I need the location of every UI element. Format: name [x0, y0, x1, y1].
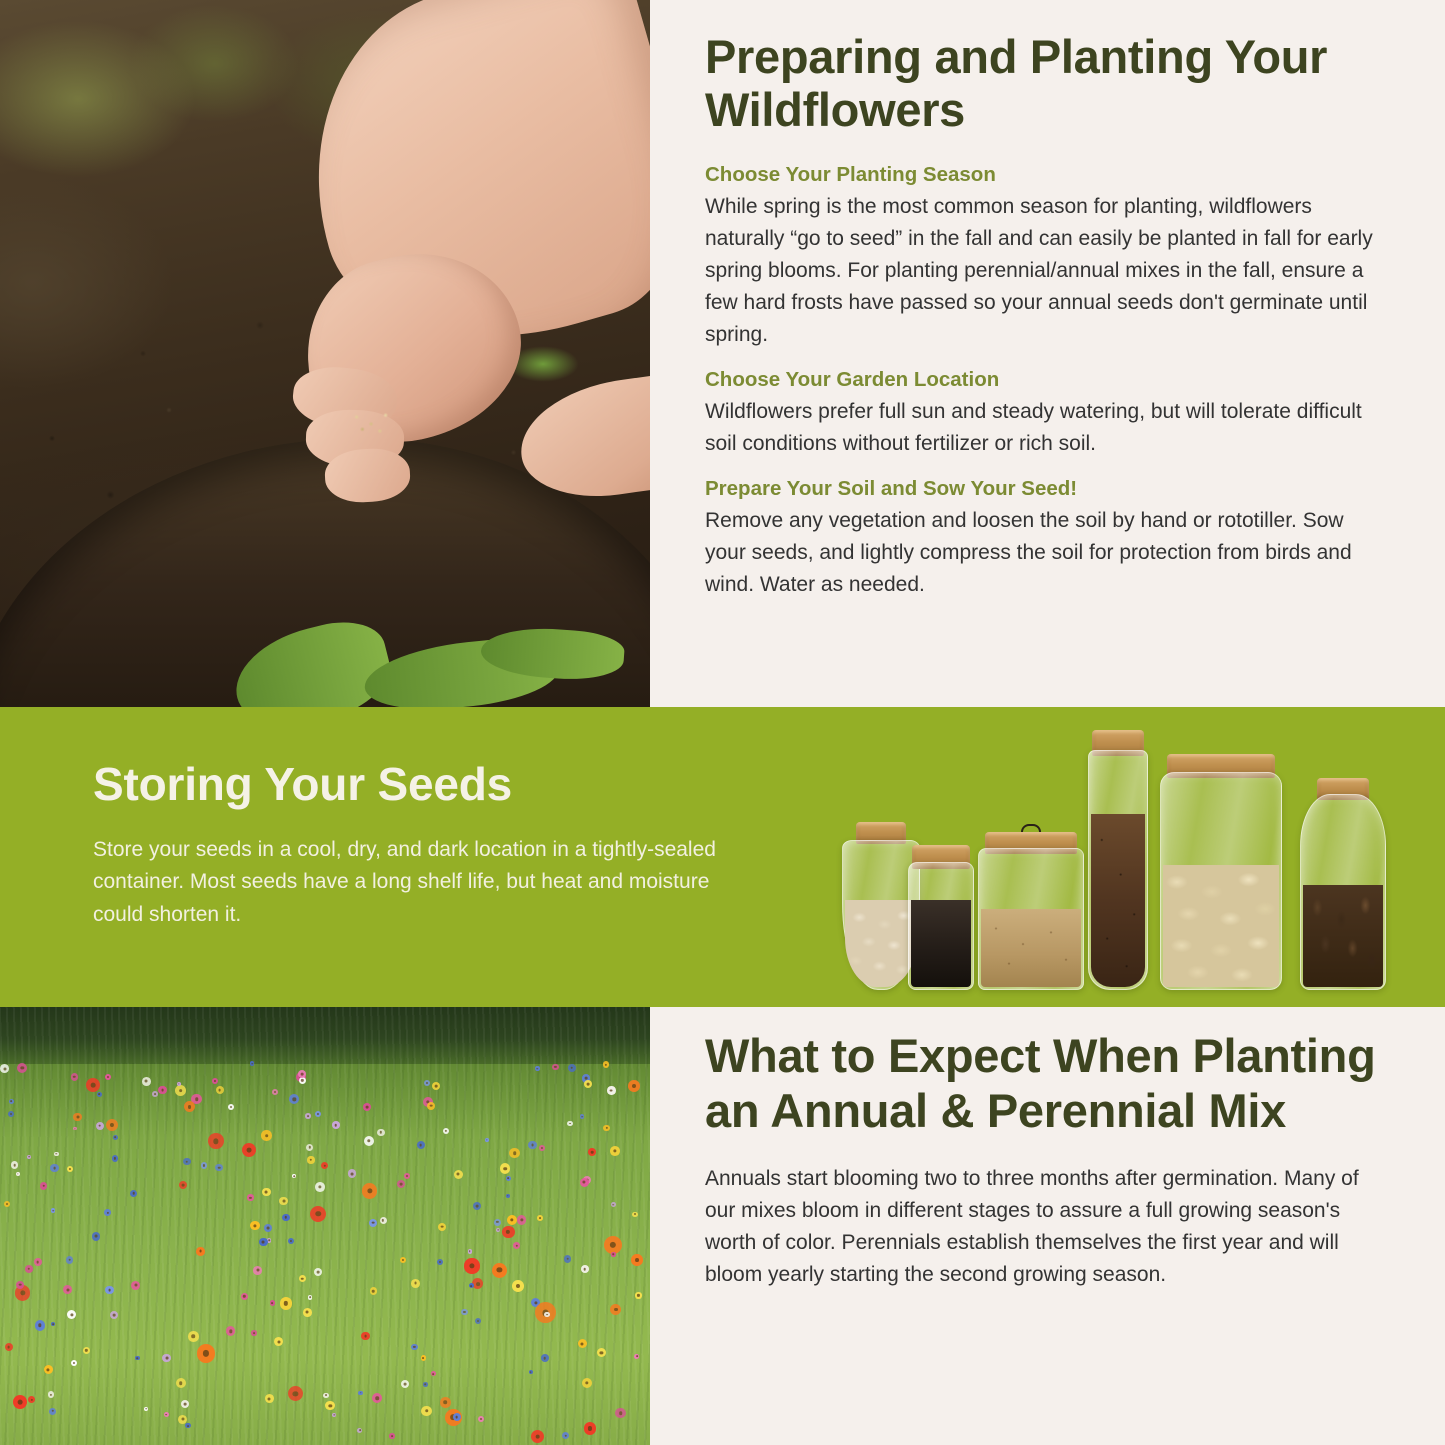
- wildflower-bloom: [13, 1395, 27, 1409]
- wildflower-bloom: [183, 1158, 190, 1165]
- wildflower-bloom: [208, 1133, 224, 1149]
- wildflower-bloom: [315, 1182, 325, 1192]
- wildflower-bloom: [417, 1141, 425, 1149]
- wildflower-bloom: [262, 1188, 271, 1197]
- page-title: Preparing and Planting Your Wildflowers: [705, 30, 1390, 136]
- wildflower-bloom: [270, 1300, 275, 1305]
- wildflower-bloom: [361, 1332, 369, 1340]
- seed-fill: [1163, 865, 1279, 987]
- wildflower-bloom: [537, 1215, 543, 1221]
- wildflower-bloom: [580, 1114, 585, 1119]
- wildflower-bloom: [440, 1397, 451, 1408]
- wildflower-bloom: [280, 1297, 293, 1310]
- section-what-to-expect: What to Expect When Planting an Annual &…: [0, 1007, 1445, 1445]
- wildflower-bloom: [584, 1080, 592, 1088]
- grass-texture: [0, 1007, 650, 1445]
- wildflower-bloom: [112, 1155, 119, 1162]
- wildflower-bloom: [71, 1360, 77, 1366]
- wildflower-bloom: [105, 1286, 113, 1294]
- wildflower-bloom: [152, 1091, 158, 1097]
- wildflower-bloom: [380, 1217, 387, 1224]
- wildflower-bloom: [615, 1408, 625, 1418]
- wildflower-bloom: [178, 1415, 187, 1424]
- wildflower-bloom: [288, 1238, 294, 1244]
- wildflower-bloom: [358, 1391, 362, 1395]
- wildflower-bloom: [8, 1111, 14, 1117]
- wildflower-bloom: [517, 1215, 527, 1225]
- wildflower-bloom: [421, 1406, 431, 1416]
- wildflower-bloom: [215, 1164, 222, 1171]
- seed-fill: [981, 909, 1081, 987]
- seed-fill: [1091, 814, 1145, 987]
- subheading-prepare-soil: Prepare Your Soil and Sow Your Seed!: [705, 476, 1390, 502]
- wildflower-bloom: [49, 1408, 56, 1415]
- wildflower-bloom: [370, 1287, 378, 1295]
- wildflower-bloom: [261, 1130, 272, 1141]
- wildflower-bloom: [588, 1148, 596, 1156]
- wildflower-bloom: [607, 1086, 616, 1095]
- section-storing-your-seeds: Storing Your Seeds Store your seeds in a…: [0, 707, 1445, 1007]
- wildflower-bloom: [250, 1221, 259, 1230]
- wildflower-bloom: [305, 1113, 311, 1119]
- wildflower-bloom: [464, 1258, 479, 1273]
- wildflower-bloom: [461, 1309, 467, 1315]
- wildflower-bloom: [494, 1219, 501, 1226]
- wildflower-bloom: [306, 1144, 313, 1151]
- wildflower-bloom: [299, 1077, 306, 1084]
- wildflower-bloom: [54, 1152, 58, 1156]
- wildflower-bloom: [468, 1249, 473, 1254]
- wildflower-bloom: [544, 1312, 549, 1317]
- wildflower-bloom: [162, 1354, 171, 1363]
- wildflower-bloom: [492, 1263, 507, 1278]
- wildflower-bloom: [507, 1215, 517, 1225]
- wildflower-bloom: [424, 1080, 430, 1086]
- wildflower-bloom: [250, 1061, 254, 1065]
- expect-title: What to Expect When Planting an Annual &…: [705, 1029, 1390, 1139]
- wildflower-bloom: [611, 1252, 615, 1256]
- wildflower-bloom: [16, 1172, 20, 1176]
- wildflower-bloom: [502, 1226, 515, 1239]
- wildflower-bloom: [71, 1073, 78, 1080]
- seed-jar-tall-tube: [1088, 750, 1148, 990]
- wildflower-bloom: [628, 1080, 640, 1092]
- wildflower-bloom: [528, 1141, 537, 1150]
- seeds-in-hand: [345, 403, 404, 438]
- body-prepare-soil: Remove any vegetation and loosen the soi…: [705, 505, 1390, 601]
- wildflower-bloom: [581, 1265, 589, 1273]
- wildflower-bloom: [500, 1163, 510, 1173]
- seed-jar-pumpkin-seeds: [1160, 772, 1282, 990]
- wildflower-bloom: [404, 1173, 410, 1179]
- wildflower-bloom: [34, 1258, 42, 1266]
- wildflower-bloom: [506, 1176, 511, 1181]
- wildflower-bloom: [332, 1121, 340, 1129]
- expect-body: Annuals start blooming two to three mont…: [705, 1163, 1390, 1292]
- wildflower-bloom: [438, 1223, 446, 1231]
- wildflower-bloom: [377, 1129, 384, 1136]
- wildflower-bloom: [73, 1113, 82, 1122]
- wildflower-bloom: [105, 1074, 111, 1080]
- wildflower-bloom: [282, 1214, 289, 1221]
- wildflower-bloom: [610, 1146, 620, 1156]
- wildflower-bloom: [303, 1308, 312, 1317]
- wildflower-bloom: [175, 1085, 186, 1096]
- wildflower-bloom: [35, 1320, 45, 1330]
- wildflower-bloom: [83, 1347, 90, 1354]
- storing-title: Storing Your Seeds: [93, 759, 733, 810]
- wildflower-bloom: [96, 1122, 104, 1130]
- wildflower-bloom: [253, 1266, 262, 1275]
- wildflower-bloom: [177, 1082, 181, 1086]
- wildflower-bloom: [635, 1292, 641, 1298]
- wildflower-bloom: [97, 1092, 102, 1097]
- wildflower-bloom: [541, 1354, 549, 1362]
- wildflower-bloom: [485, 1138, 489, 1142]
- wildflower-bloom: [104, 1209, 111, 1216]
- wildflower-bloom: [247, 1194, 253, 1200]
- wildflower-bloom: [135, 1356, 139, 1360]
- storing-text-block: Storing Your Seeds Store your seeds in a…: [93, 759, 733, 931]
- wildflower-bloom: [40, 1182, 47, 1189]
- seed-fill: [845, 900, 917, 987]
- seed-jar-black-seeds: [908, 862, 974, 990]
- wildflower-bloom: [453, 1413, 461, 1421]
- section-preparing-and-planting: Preparing and Planting Your Wildflowers …: [0, 0, 1445, 707]
- wildflower-bloom: [389, 1433, 394, 1438]
- wildflower-bloom: [25, 1265, 32, 1272]
- body-planting-season: While spring is the most common season f…: [705, 191, 1390, 352]
- wildflower-bloom: [259, 1238, 268, 1247]
- wildflower-bloom: [66, 1256, 74, 1264]
- wildflower-bloom: [437, 1259, 443, 1265]
- wildflower-bloom: [564, 1255, 572, 1263]
- wildflower-bloom: [196, 1247, 205, 1256]
- seed-jars-photo: [820, 717, 1440, 1002]
- wildflower-bloom: [86, 1078, 100, 1092]
- wildflower-bloom: [552, 1064, 559, 1071]
- wildflower-bloom: [92, 1232, 101, 1241]
- wildflower-bloom: [423, 1382, 428, 1387]
- wildflower-meadow-photo: [0, 1007, 650, 1445]
- wildflower-bloom: [567, 1121, 573, 1127]
- wildflower-bloom: [427, 1102, 435, 1110]
- wildflower-bloom: [272, 1089, 278, 1095]
- wildflower-bloom: [411, 1344, 418, 1351]
- wildflower-bloom: [197, 1344, 215, 1362]
- wildflower-bloom: [478, 1416, 484, 1422]
- wildflower-bloom: [188, 1331, 198, 1341]
- wildflower-bloom: [201, 1162, 207, 1168]
- wildflower-bloom: [364, 1136, 374, 1146]
- wildflower-bloom: [307, 1156, 314, 1163]
- wildflower-bloom: [584, 1422, 596, 1434]
- seed-jar-striped-seeds: [1300, 794, 1386, 990]
- hand-sowing-seeds-photo: [0, 0, 650, 707]
- wildflower-bloom: [535, 1066, 539, 1070]
- wildflower-bloom: [580, 1178, 589, 1187]
- wildflower-bloom: [369, 1219, 377, 1227]
- expect-text-column: What to Expect When Planting an Annual &…: [650, 1007, 1445, 1445]
- seed-jar-tan-seeds: [978, 848, 1084, 990]
- wildflower-bloom: [9, 1099, 14, 1104]
- wildflower-bloom: [611, 1202, 616, 1207]
- wildflower-bloom: [631, 1254, 643, 1266]
- wildflower-bloom: [411, 1279, 420, 1288]
- wildflower-bloom: [265, 1394, 274, 1403]
- wildflower-bloom: [362, 1183, 377, 1198]
- wildflower-bloom: [251, 1330, 256, 1335]
- body-garden-location: Wildflowers prefer full sun and steady w…: [705, 396, 1390, 460]
- wildflower-bloom: [582, 1378, 592, 1388]
- wildflower-bloom: [228, 1104, 234, 1110]
- wildflower-bloom: [142, 1077, 151, 1086]
- seed-fill: [1303, 885, 1383, 987]
- subheading-planting-season: Choose Your Planting Season: [705, 162, 1390, 188]
- wildflower-bloom: [158, 1086, 166, 1094]
- planting-text-column: Preparing and Planting Your Wildflowers …: [650, 0, 1445, 707]
- storing-body: Store your seeds in a cool, dry, and dar…: [93, 834, 733, 932]
- seed-fill: [911, 900, 971, 987]
- wildflower-bloom: [241, 1293, 248, 1300]
- infographic-page: Preparing and Planting Your Wildflowers …: [0, 0, 1445, 1445]
- wildflower-bloom: [568, 1064, 576, 1072]
- wildflower-bloom: [454, 1170, 463, 1179]
- wildflower-bloom: [421, 1355, 427, 1361]
- wildflower-bloom: [506, 1194, 510, 1198]
- wildflower-bloom: [113, 1135, 118, 1140]
- wildflower-bloom: [242, 1143, 256, 1157]
- subheading-garden-location: Choose Your Garden Location: [705, 367, 1390, 393]
